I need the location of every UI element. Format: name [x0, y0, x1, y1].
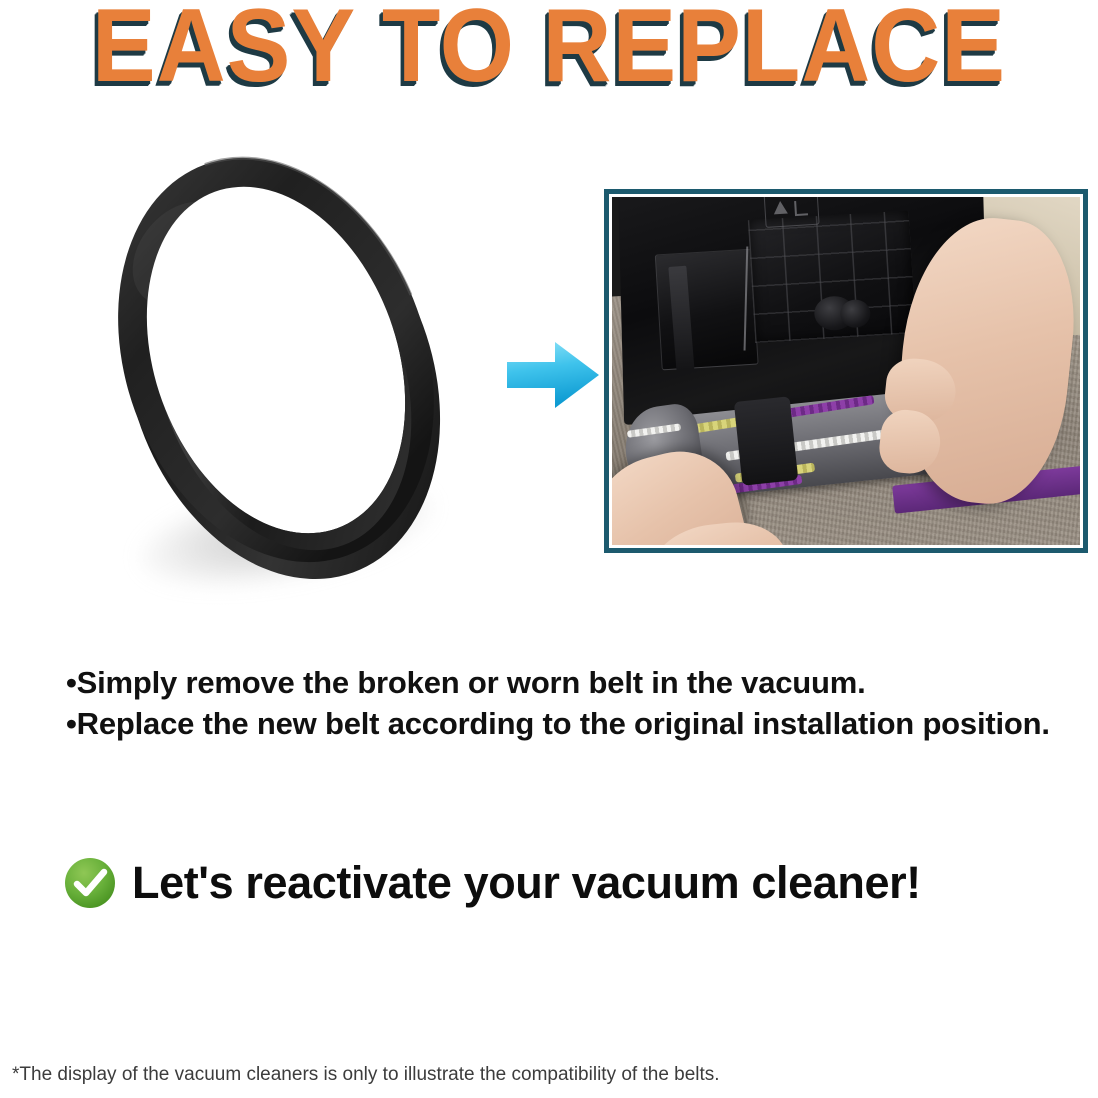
- page-title: EASY TO REPLACE: [44, 0, 1054, 96]
- installation-photo-panel: [604, 189, 1088, 553]
- title-band: EASY TO REPLACE: [0, 0, 1098, 108]
- warning-triangle-icon: [764, 197, 820, 228]
- vacuum-belt-icon: [106, 132, 446, 587]
- instruction-list: •Simply remove the broken or worn belt i…: [66, 662, 1086, 744]
- footer-disclaimer: *The display of the vacuum cleaners is o…: [12, 1062, 720, 1088]
- infographic-page: EASY TO REPLACE: [0, 0, 1098, 1098]
- arrow-right-icon: [505, 338, 601, 412]
- list-item: •Replace the new belt according to the o…: [66, 703, 1086, 744]
- photo-endcap-bristles: [627, 423, 681, 437]
- callout-reactivate: Let's reactivate your vacuum cleaner!: [62, 855, 921, 911]
- installation-photo: [612, 197, 1080, 545]
- list-item: •Simply remove the broken or worn belt i…: [66, 662, 1086, 703]
- callout-text: Let's reactivate your vacuum cleaner!: [132, 857, 921, 909]
- belt-figure: [106, 132, 446, 587]
- check-circle-icon: [62, 855, 118, 911]
- photo-roller-coupler: [734, 396, 799, 485]
